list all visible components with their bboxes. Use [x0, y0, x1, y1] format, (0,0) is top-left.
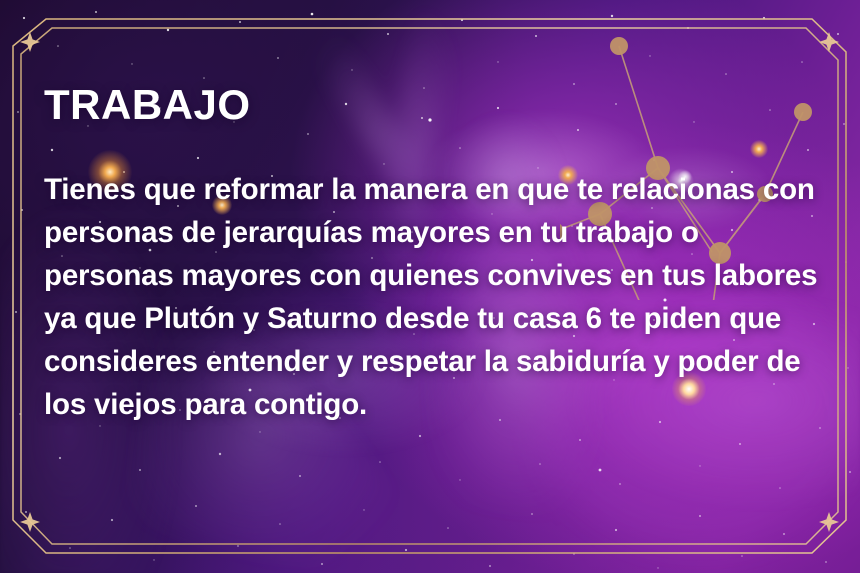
page-title: TRABAJO: [44, 84, 832, 126]
sparkle-icon: [819, 32, 839, 52]
card-content: TRABAJO Tienes que reformar la manera en…: [44, 84, 832, 426]
sparkle-icon: [20, 32, 40, 52]
card-body-text: Tienes que reformar la manera en que te …: [44, 126, 832, 426]
horoscope-card: TRABAJO Tienes que reformar la manera en…: [0, 0, 860, 573]
